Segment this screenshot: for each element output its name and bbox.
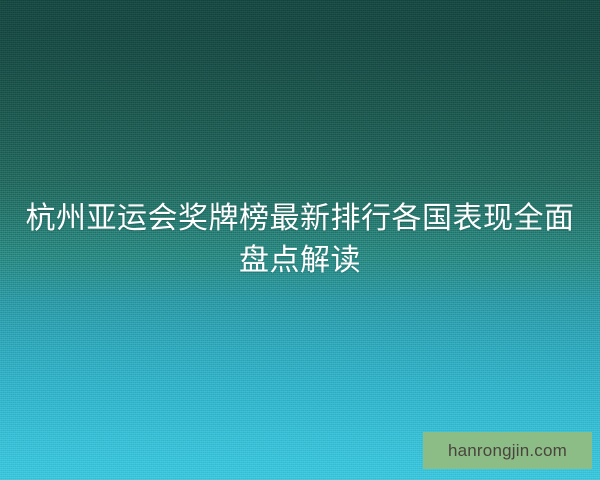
- page-title: 杭州亚运会奖牌榜最新排行各国表现全面盘点解读: [22, 198, 578, 282]
- watermark-site-label: hanrongjin.com: [448, 442, 567, 459]
- watermark-badge: hanrongjin.com: [423, 432, 592, 469]
- cover-image-canvas: 杭州亚运会奖牌榜最新排行各国表现全面盘点解读 hanrongjin.com: [0, 0, 600, 480]
